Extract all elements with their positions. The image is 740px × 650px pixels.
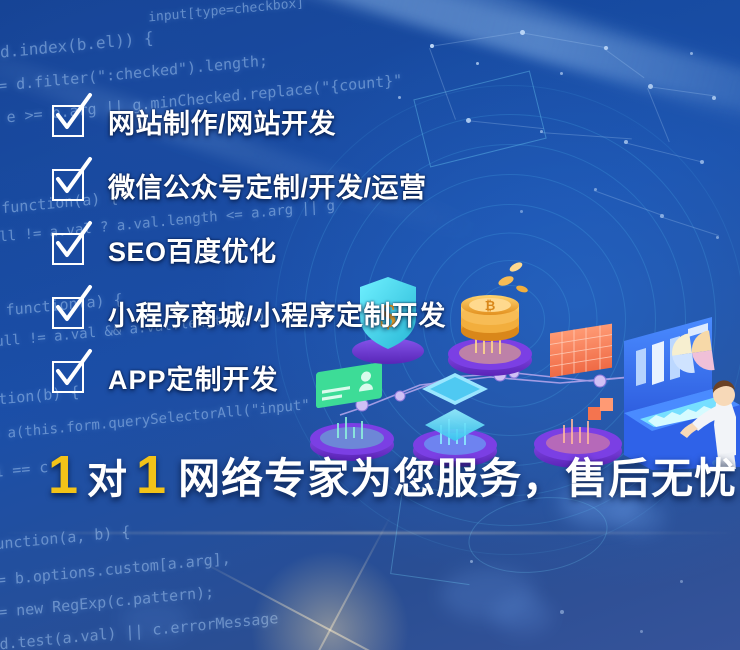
code-line: = b.options.custom[a.arg], xyxy=(0,549,231,589)
checkbox-checked-icon[interactable] xyxy=(52,105,84,137)
headline: 1 对 1 网络专家为您服务，售后无忧！ xyxy=(48,448,740,502)
checkbox-checked-icon[interactable] xyxy=(52,169,84,201)
code-line: input[type=checkbox] xyxy=(148,0,304,26)
service-label: SEO百度优化 xyxy=(108,230,277,269)
code-line: e = d.filter(":checked").length; xyxy=(0,51,268,96)
code-line: 1 == c xyxy=(0,458,49,481)
list-item[interactable]: APP定制开发 xyxy=(52,354,672,400)
service-label: 小程序商城/小程序定制开发 xyxy=(108,294,446,333)
service-label: 微信公众号定制/开发/运营 xyxy=(108,166,427,205)
list-item[interactable]: 微信公众号定制/开发/运营 xyxy=(52,162,672,208)
code-line: = new RegExp(c.pattern); xyxy=(0,583,214,621)
checkbox-checked-icon[interactable] xyxy=(52,297,84,329)
code-line: unction(a, b) { xyxy=(0,523,131,554)
checkbox-checked-icon[interactable] xyxy=(52,361,84,393)
headline-number-first: 1 xyxy=(48,448,78,502)
promo-banner: input[type=checkbox] = d.index(b.el)) { … xyxy=(0,0,740,650)
headline-number-second: 1 xyxy=(136,448,166,502)
list-item[interactable]: 网站制作/网站开发 xyxy=(52,98,672,144)
lens-flare xyxy=(240,540,420,650)
checkbox-checked-icon[interactable] xyxy=(52,233,84,265)
service-label: 网站制作/网站开发 xyxy=(108,102,336,141)
service-checklist: 网站制作/网站开发 微信公众号定制/开发/运营 SEO百度优化 小程序商城/小程… xyxy=(52,98,672,418)
list-item[interactable]: 小程序商城/小程序定制开发 xyxy=(52,290,672,336)
code-line: = d.index(b.el)) { xyxy=(0,28,154,63)
list-item[interactable]: SEO百度优化 xyxy=(52,226,672,272)
headline-middle-word: 对 xyxy=(87,460,127,500)
headline-text: 网络专家为您服务，售后无忧！ xyxy=(178,458,740,500)
code-line: d.test(a.val) || c.errorMessage xyxy=(0,609,279,650)
service-label: APP定制开发 xyxy=(108,358,279,397)
